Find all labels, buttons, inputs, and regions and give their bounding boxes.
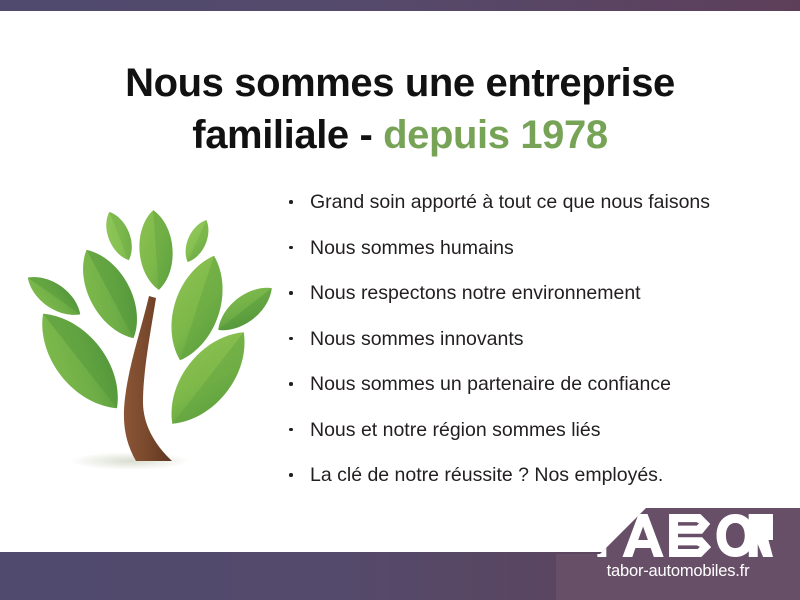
bullet-dot-icon — [289, 382, 293, 386]
logo-url[interactable]: tabor-automobiles.fr — [556, 562, 800, 581]
list-item-label: Nous respectons notre environnement — [310, 282, 641, 304]
heading-line-2: familiale - depuis 1978 — [0, 109, 800, 161]
brand-logo-panel[interactable]: tabor-automobiles.fr — [556, 508, 800, 600]
value-list: Grand soin apporté à tout ce que nous fa… — [286, 190, 786, 487]
bullet-dot-icon — [289, 428, 293, 432]
list-item: Nous sommes un partenaire de confiance — [286, 372, 786, 396]
list-item-label: La clé de notre réussite ? Nos employés. — [310, 464, 663, 486]
bullet-dot-icon — [289, 337, 293, 341]
bullet-dot-icon — [289, 473, 293, 477]
logo-wordmark — [556, 514, 800, 557]
list-item: Nous sommes innovants — [286, 327, 786, 351]
heading-line-2-main: familiale - — [192, 113, 383, 157]
list-item-label: Grand soin apporté à tout ce que nous fa… — [310, 191, 710, 213]
slide-canvas: Nous sommes une entreprise familiale - d… — [0, 0, 800, 600]
heading-accent-year: depuis 1978 — [383, 113, 608, 157]
tree-illustration — [12, 178, 282, 490]
top-accent-bar — [0, 0, 800, 11]
bullet-dot-icon — [289, 200, 293, 204]
heading-line-1: Nous sommes une entreprise — [125, 61, 675, 105]
list-item: Nous sommes humains — [286, 236, 786, 260]
list-item-label: Nous sommes innovants — [310, 328, 524, 350]
list-item: Nous respectons notre environnement — [286, 281, 786, 305]
bullet-dot-icon — [289, 246, 293, 250]
list-item-label: Nous sommes un partenaire de confiance — [310, 373, 671, 395]
list-item-label: Nous et notre région sommes liés — [310, 419, 600, 441]
list-item: Nous et notre région sommes liés — [286, 418, 786, 442]
list-item-label: Nous sommes humains — [310, 237, 514, 259]
list-item: Grand soin apporté à tout ce que nous fa… — [286, 190, 786, 214]
page-title: Nous sommes une entreprise familiale - d… — [0, 57, 800, 161]
list-item: La clé de notre réussite ? Nos employés. — [286, 463, 786, 487]
bullet-dot-icon — [289, 291, 293, 295]
